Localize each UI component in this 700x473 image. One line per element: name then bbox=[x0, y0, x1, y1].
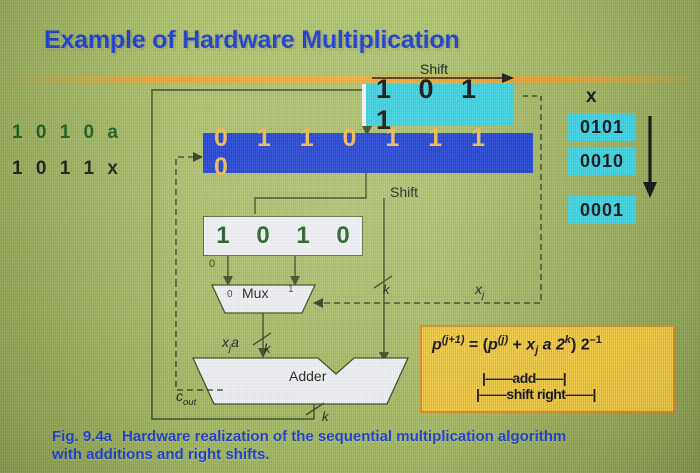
select-signal-xj-base: x bbox=[475, 281, 482, 297]
bus-width-label-adder-out: k bbox=[322, 409, 329, 424]
eq-lhs: p bbox=[432, 336, 442, 353]
x-value-box-1: 0010 bbox=[568, 147, 636, 175]
mux-block-label: Mux bbox=[242, 285, 268, 301]
shift-right-span-brace: |——shift right——| bbox=[432, 386, 663, 402]
select-signal-xj-label: xj bbox=[475, 281, 484, 301]
recurrence-equation: p(j+1) = (p(j) + xj a 2k) 2–1 bbox=[432, 334, 663, 357]
multiplicand-register: 1 0 1 0 bbox=[203, 216, 363, 256]
eq-term1: p bbox=[488, 336, 498, 353]
bus-width-label-right: k bbox=[383, 282, 390, 297]
carry-out-subscript: out bbox=[183, 397, 196, 408]
bus-width-label-mux-out: k bbox=[264, 341, 271, 356]
eq-term2: x bbox=[526, 336, 535, 353]
mux-input-1-label: 1 bbox=[288, 284, 294, 295]
eq-equals: = ( bbox=[464, 336, 488, 353]
partial-product-register: 0 1 1 0 1 1 1 0 bbox=[203, 133, 533, 173]
shift-label-middle: Shift bbox=[390, 184, 418, 200]
eq-term1-sup: (j) bbox=[498, 334, 508, 346]
x-value-box-0: 0101 bbox=[568, 113, 636, 141]
mux-output-base: x bbox=[222, 334, 229, 350]
mux-output-tail: a bbox=[231, 334, 239, 350]
partial-product-register-bits: 0 1 1 0 1 1 1 0 bbox=[203, 124, 533, 182]
eq-lhs-sup: (j+1) bbox=[442, 334, 465, 346]
add-span-brace: |——add——| bbox=[432, 370, 663, 386]
multiplier-register: 1 0 1 1 bbox=[362, 84, 514, 126]
mux-input-0-label: 0 bbox=[227, 289, 233, 300]
x-column-label: x bbox=[586, 86, 597, 108]
shift-label-top: Shift bbox=[420, 61, 448, 77]
adder-block-label: Adder bbox=[289, 368, 326, 384]
multiplicand-register-bits: 1 0 1 0 bbox=[206, 222, 359, 250]
eq-term3: a 2 bbox=[538, 336, 565, 353]
slide-canvas: Example of Hardware Multiplication 1 0 1… bbox=[0, 0, 700, 473]
carry-out-label: cout bbox=[176, 388, 196, 408]
select-signal-xj-subscript: j bbox=[482, 290, 484, 301]
mux-constant-zero-label: 0 bbox=[209, 258, 215, 270]
mux-output-label: xja bbox=[222, 334, 239, 354]
x-value-box-2: 0001 bbox=[568, 196, 636, 224]
eq-plus: + bbox=[508, 336, 526, 353]
recurrence-formula-box: p(j+1) = (p(j) + xj a 2k) 2–1 |——add——| … bbox=[420, 325, 675, 413]
eq-close: ) 2 bbox=[571, 336, 590, 353]
eq-close-sup: –1 bbox=[590, 334, 602, 346]
carry-out-base: c bbox=[176, 388, 183, 404]
